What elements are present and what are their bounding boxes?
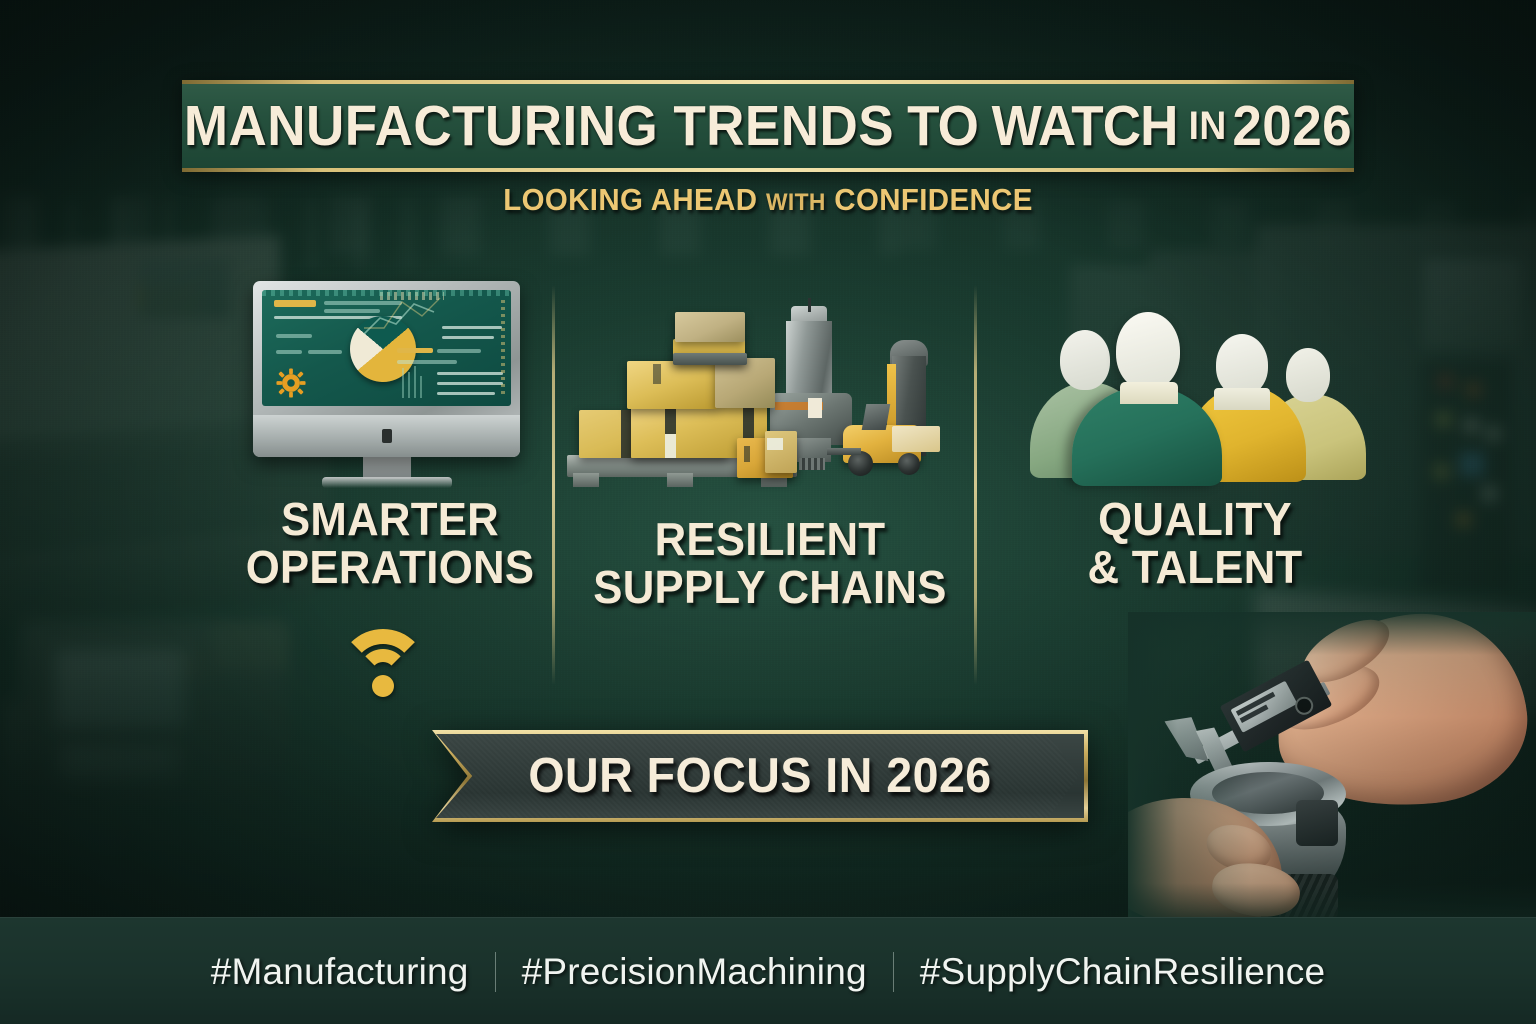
box-tape (744, 446, 750, 462)
focus-ribbon-banner: OUR FOCUS IN 2026 (432, 730, 1088, 822)
column-divider-1 (552, 285, 555, 685)
box-tape (621, 410, 631, 458)
forklift-wheel-front (898, 453, 920, 475)
hashtag-row: #Manufacturing #PrecisionMachining #Supp… (0, 918, 1536, 1024)
forklift-fork (827, 448, 861, 455)
pillar-3-line2: & TALENT (1015, 543, 1376, 591)
title-banner: MANUFACTURING TRENDS TO WATCH IN 2026 (182, 80, 1354, 172)
hashtag-manufacturing[interactable]: #Manufacturing (211, 951, 469, 993)
dashboard-monitor-icon (253, 281, 520, 457)
box-middle-side (715, 358, 775, 408)
ring-clamp (1296, 800, 1338, 846)
page-subtitle: LOOKING AHEAD WITH CONFIDENCE (38, 182, 1497, 218)
pillar-2-line2: SUPPLY CHAINS (580, 563, 960, 611)
machine-antenna (808, 298, 811, 312)
pillar-1-line2: OPERATIONS (224, 543, 557, 591)
column-divider-2 (974, 285, 977, 685)
title-towatch-text: TO WATCH (907, 93, 1177, 159)
team-people-icon (1036, 296, 1366, 476)
machine-brush (799, 458, 825, 470)
pallet-boxes-forklift-icon (565, 298, 965, 498)
pallet-leg (573, 473, 599, 487)
hashtag-precision-machining[interactable]: #PrecisionMachining (522, 951, 867, 993)
wifi-dot (372, 675, 394, 697)
page-title: MANUFACTURING TRENDS TO WATCH IN 2026 (223, 80, 1313, 172)
ribbon-label: OUR FOCUS IN 2026 (448, 730, 1071, 822)
box-small-label (767, 438, 783, 450)
pillar-label-resilient-supply-chains: RESILIENT SUPPLY CHAINS (580, 515, 960, 612)
pillar-label-quality-talent: QUALITY & TALENT (1015, 495, 1376, 592)
box-tape-light (665, 434, 676, 458)
pillar-label-smarter-operations: SMARTER OPERATIONS (224, 495, 557, 592)
hashtag-separator (893, 952, 894, 992)
title-year-text: 2026 (1232, 93, 1352, 159)
wifi-connectivity-icon (338, 625, 428, 697)
monitor-foot (322, 477, 452, 488)
pillar-1-line1: SMARTER (224, 495, 557, 543)
pallet-leg (667, 473, 693, 487)
hashtag-supply-chain-resilience[interactable]: #SupplyChainResilience (920, 951, 1325, 993)
gear-icon (276, 368, 306, 398)
title-main-text: MANUFACTURING TRENDS (184, 93, 894, 159)
pillar-3-line1: QUALITY (1015, 495, 1376, 543)
subtitle-second: CONFIDENCE (834, 182, 1033, 217)
subtitle-first: LOOKING AHEAD (503, 182, 757, 217)
box-top-shadow-slab (673, 353, 747, 365)
box-tape (665, 406, 676, 434)
pillar-2-line1: RESILIENT (580, 515, 960, 563)
box-top (675, 312, 745, 342)
subtitle-with: WITH (766, 189, 826, 216)
box-middle-front (627, 361, 717, 409)
monitor-stand (363, 457, 411, 479)
title-in-text: IN (1189, 104, 1227, 149)
machine-indicator (808, 398, 822, 418)
forklift-cab (862, 404, 891, 430)
hashtag-separator (495, 952, 496, 992)
infographic-canvas: MANUFACTURING TRENDS TO WATCH IN 2026 LO… (0, 0, 1536, 1024)
forklift-load (892, 426, 940, 452)
footer-bar: #Manufacturing #PrecisionMachining #Supp… (0, 917, 1536, 1024)
monitor-screen (262, 290, 511, 406)
box-tape (653, 364, 661, 384)
monitor-power-led (382, 429, 392, 443)
dashboard-trendline (362, 294, 442, 338)
hands-caliper-measuring-part-photo (1128, 612, 1536, 920)
